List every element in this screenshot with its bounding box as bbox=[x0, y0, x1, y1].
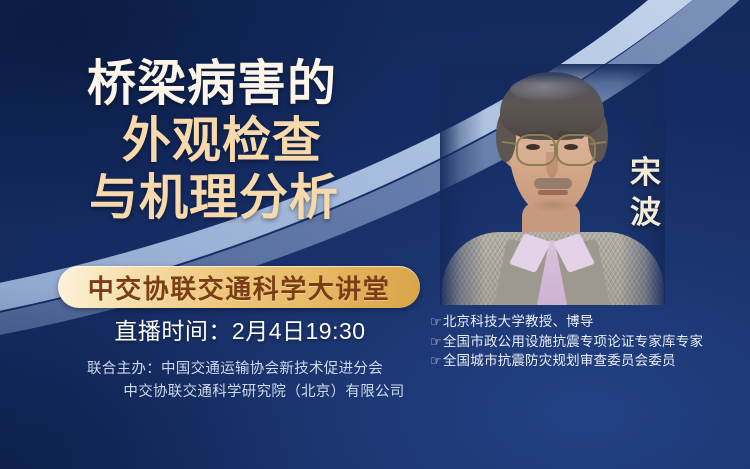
credential-item: ☞ 北京科技大学教授、博导 bbox=[430, 312, 748, 332]
title-line-3: 与机理分析 bbox=[0, 170, 430, 227]
credential-item: ☞ 全国市政公用设施抗震专项论证专家库专家 bbox=[430, 332, 748, 352]
series-banner-label: 中交协联交通科学大讲堂 bbox=[88, 269, 391, 306]
pointing-hand-icon: ☞ bbox=[430, 312, 442, 332]
organizer-line-1: 联合主办：中国交通运输协会新技术促进分会 bbox=[0, 358, 470, 381]
speaker-name: 宋 波 bbox=[630, 153, 663, 233]
credential-item: ☞ 全国城市抗震防灾规划审查委员会委员 bbox=[430, 351, 748, 371]
glasses-bridge bbox=[550, 144, 558, 146]
poster-title: 桥梁病害的 外观检查 与机理分析 bbox=[0, 56, 430, 227]
credential-text: 全国市政公用设施抗震专项论证专家库专家 bbox=[443, 332, 703, 352]
pointing-hand-icon: ☞ bbox=[430, 351, 442, 371]
portrait-moustache bbox=[534, 178, 572, 189]
webinar-poster: 桥梁病害的 外观检查 与机理分析 中交协联交通科学大讲堂 直播时间：2月4日19… bbox=[0, 0, 750, 469]
glasses-lens-left bbox=[516, 134, 556, 166]
speaker-name-char-1: 宋 bbox=[630, 153, 663, 193]
pointing-hand-icon: ☞ bbox=[430, 332, 442, 352]
portrait-mouth bbox=[538, 190, 568, 195]
organizer-line-2: 中交协联交通科学研究院（北京）有限公司 bbox=[0, 381, 470, 404]
speaker-name-char-2: 波 bbox=[630, 193, 663, 233]
portrait-hair-highlight bbox=[510, 76, 594, 102]
series-banner: 中交协联交通科学大讲堂 bbox=[58, 266, 420, 308]
speaker-credentials: ☞ 北京科技大学教授、博导 ☞ 全国市政公用设施抗震专项论证专家库专家 ☞ 全国… bbox=[430, 312, 748, 371]
live-time: 直播时间：2月4日19:30 bbox=[0, 312, 480, 346]
organizers: 联合主办：中国交通运输协会新技术促进分会 中交协联交通科学研究院（北京）有限公司 bbox=[0, 358, 470, 404]
credential-text: 全国城市抗震防灾规划审查委员会委员 bbox=[443, 351, 676, 371]
credential-text: 北京科技大学教授、博导 bbox=[443, 312, 594, 332]
title-line-1: 桥梁病害的 bbox=[0, 56, 430, 113]
glasses-lens-right bbox=[556, 134, 596, 166]
title-line-2: 外观检查 bbox=[14, 113, 430, 170]
portrait-chin-shadow bbox=[530, 198, 576, 212]
